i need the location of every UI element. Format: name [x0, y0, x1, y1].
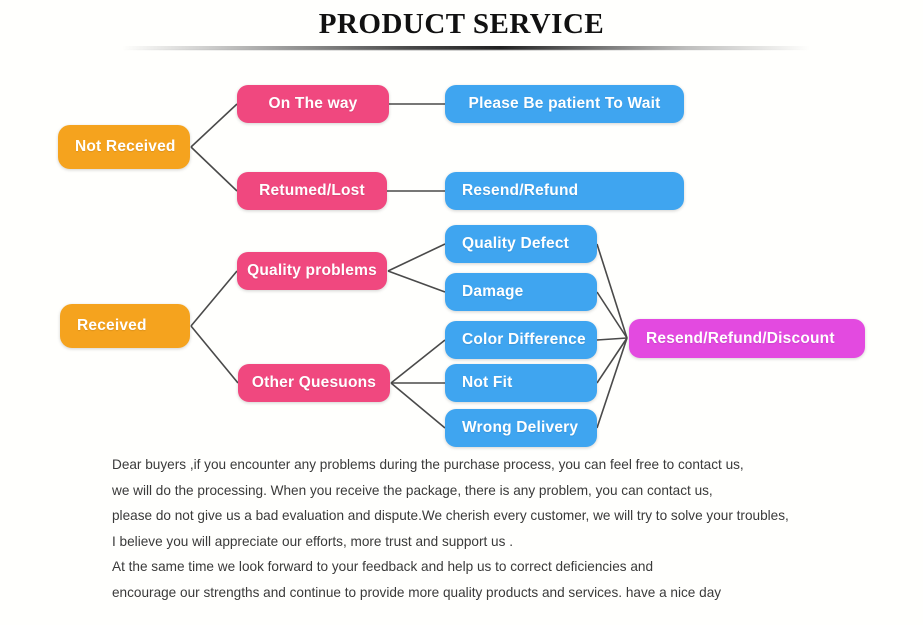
node-resend-refund[interactable]: Resend/Refund [445, 172, 684, 210]
connector-received-to-quality-problems [191, 271, 237, 326]
node-wrong-delivery[interactable]: Wrong Delivery [445, 409, 597, 447]
node-other-questions[interactable]: Other Quesuons [238, 364, 390, 402]
connector-received-to-other-questions [191, 326, 238, 383]
title-divider [122, 46, 810, 50]
node-not-fit[interactable]: Not Fit [445, 364, 597, 402]
connector-not-received-to-returned-lost [191, 147, 237, 191]
node-received[interactable]: Received [60, 304, 190, 348]
note-line-1: Dear buyers ,if you encounter any proble… [112, 452, 812, 478]
connector-quality-problems-to-damage [388, 271, 445, 292]
connector-not-fit-to-resolution [597, 338, 627, 383]
connector-quality-defect-to-resolution [597, 244, 627, 338]
connector-damage-to-resolution [597, 292, 627, 338]
node-damage[interactable]: Damage [445, 273, 597, 311]
node-quality-problems[interactable]: Quality problems [237, 252, 387, 290]
buyer-note: Dear buyers ,if you encounter any proble… [112, 452, 812, 605]
connector-quality-problems-to-quality-defect [388, 244, 445, 271]
node-resend-refund-discount[interactable]: Resend/Refund/Discount [629, 319, 865, 358]
node-color-difference[interactable]: Color Difference [445, 321, 597, 359]
node-please-be-patient-to-wait[interactable]: Please Be patient To Wait [445, 85, 684, 123]
note-line-5: At the same time we look forward to your… [112, 554, 812, 580]
page-title: PRODUCT SERVICE [0, 6, 923, 42]
connector-color-difference-to-resolution [597, 338, 627, 340]
note-line-4: I believe you will appreciate our effort… [112, 529, 812, 555]
connector-other-questions-to-color-difference [391, 340, 445, 383]
node-returned-lost[interactable]: Retumed/Lost [237, 172, 387, 210]
note-line-3: please do not give us a bad evaluation a… [112, 503, 812, 529]
connector-not-received-to-on-the-way [191, 104, 237, 147]
product-service-infographic: PRODUCT SERVICE Not Received Received On… [0, 0, 923, 625]
node-not-received[interactable]: Not Received [58, 125, 190, 169]
note-line-6: encourage our strengths and continue to … [112, 580, 812, 606]
node-quality-defect[interactable]: Quality Defect [445, 225, 597, 263]
note-line-2: we will do the processing. When you rece… [112, 478, 812, 504]
node-on-the-way[interactable]: On The way [237, 85, 389, 123]
title-block: PRODUCT SERVICE [0, 6, 923, 42]
connector-wrong-delivery-to-resolution [597, 338, 627, 428]
connector-other-questions-to-wrong-delivery [391, 383, 445, 428]
